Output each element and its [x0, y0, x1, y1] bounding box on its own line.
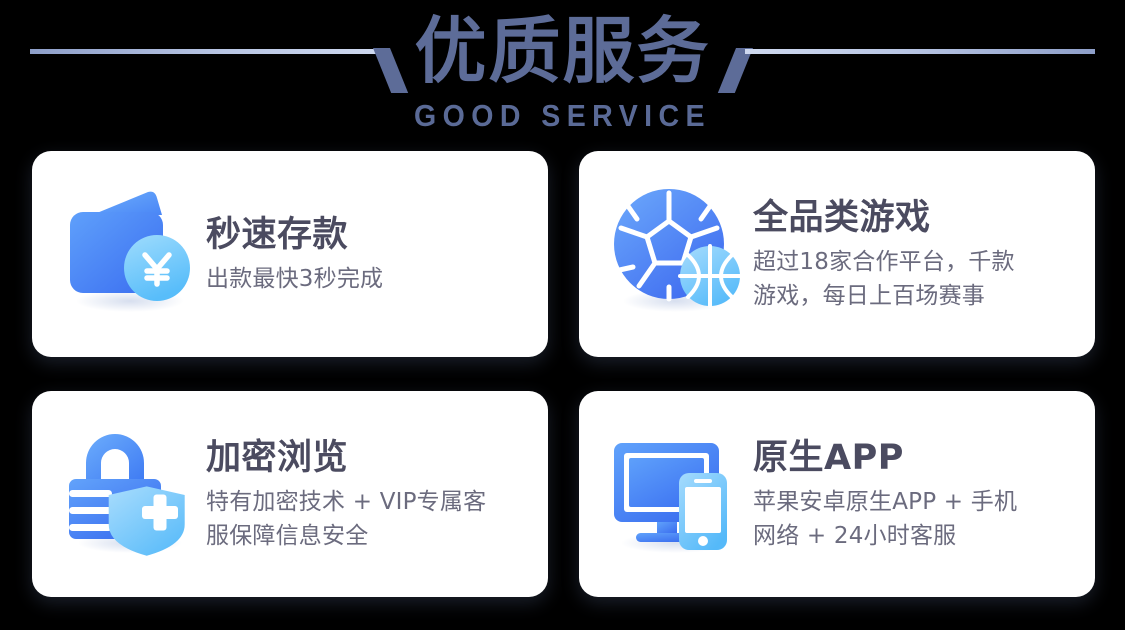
feature-card-deposit[interactable]: 秒速存款 出款最快3秒完成 — [32, 151, 548, 357]
feature-card-encryption[interactable]: 加密浏览 特有加密技术 + VIP专属客 服保障信息安全 — [32, 391, 548, 597]
feature-card-desc-line: 网络 + 24小时客服 — [753, 519, 1077, 553]
feature-card-desc: 超过18家合作平台，千款 游戏，每日上百场赛事 — [753, 245, 1077, 313]
page-title: 优质服务 — [0, 8, 1125, 94]
feature-card-desc: 出款最快3秒完成 — [206, 262, 530, 296]
promo-banner: 优质服务 GOOD SERVICE — [0, 0, 1125, 630]
feature-card-desc-line: 超过18家合作平台，千款 — [753, 245, 1077, 279]
feature-card-title: 加密浏览 — [206, 436, 530, 480]
feature-card-text: 加密浏览 特有加密技术 + VIP专属客 服保障信息安全 — [206, 436, 548, 553]
feature-card-desc-line: 出款最快3秒完成 — [206, 262, 530, 296]
feature-card-title: 全品类游戏 — [753, 196, 1077, 240]
feature-card-desc: 特有加密技术 + VIP专属客 服保障信息安全 — [206, 485, 530, 553]
feature-card-text: 原生APP 苹果安卓原生APP + 手机 网络 + 24小时客服 — [753, 436, 1095, 553]
banner-header: 优质服务 GOOD SERVICE — [0, 0, 1125, 148]
feature-card-desc-line: 游戏，每日上百场赛事 — [753, 279, 1077, 313]
wallet-yen-icon — [56, 179, 206, 329]
feature-card-games[interactable]: 全品类游戏 超过18家合作平台，千款 游戏，每日上百场赛事 — [579, 151, 1095, 357]
feature-card-desc: 苹果安卓原生APP + 手机 网络 + 24小时客服 — [753, 485, 1077, 553]
feature-card-desc-line: 苹果安卓原生APP + 手机 — [753, 485, 1077, 519]
lock-shield-icon — [56, 419, 206, 569]
monitor-phone-icon — [603, 419, 753, 569]
feature-card-desc-line: 服保障信息安全 — [206, 519, 530, 553]
feature-card-desc-line: 特有加密技术 + VIP专属客 — [206, 485, 530, 519]
feature-card-text: 全品类游戏 超过18家合作平台，千款 游戏，每日上百场赛事 — [753, 196, 1095, 313]
feature-card-text: 秒速存款 出款最快3秒完成 — [206, 213, 548, 296]
feature-card-native-app[interactable]: 原生APP 苹果安卓原生APP + 手机 网络 + 24小时客服 — [579, 391, 1095, 597]
page-subtitle: GOOD SERVICE — [45, 98, 1080, 134]
feature-card-title: 原生APP — [753, 436, 1077, 480]
feature-card-grid: 秒速存款 出款最快3秒完成 — [32, 151, 1095, 597]
soccer-basketball-icon — [603, 179, 753, 329]
feature-card-title: 秒速存款 — [206, 213, 530, 257]
